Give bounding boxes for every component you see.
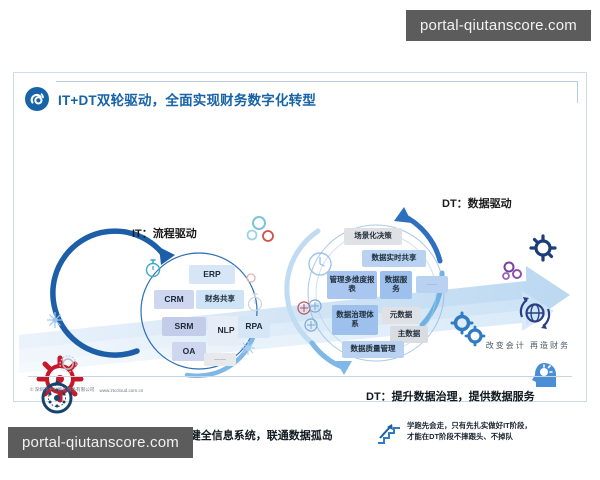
- dt-chip-scenario-decision[interactable]: 场景化决策: [344, 228, 402, 245]
- purple-gear-cluster-icon: [501, 260, 527, 282]
- snowflake-icon: [240, 340, 256, 356]
- blue-gears-icon: [449, 311, 489, 349]
- globe-arrows-icon: [517, 295, 553, 331]
- dt-chip-realtime-share[interactable]: 数据实时共享: [362, 250, 426, 267]
- watermark-bottom: portal-qiutanscore.com: [8, 427, 193, 458]
- note-line-1: 学跑先会走，只有先扎实做好IT阶段，: [407, 421, 532, 432]
- it-chip-rpa[interactable]: RPA: [238, 316, 270, 338]
- note-text: 学跑先会走，只有先扎实做好IT阶段， 才能在DT阶段不摔跟头、不掉队: [407, 421, 532, 442]
- it-chip-oa[interactable]: OA: [172, 342, 206, 361]
- footer-rule: [28, 376, 572, 377]
- slide-card: IT+DT双轮驱动，全面实现财务数字化转型: [13, 72, 587, 402]
- dt-cycle-label: DT：数据驱动: [442, 195, 512, 211]
- note-block: 学跑先会走，只有先扎实做好IT阶段， 才能在DT阶段不摔跟头、不掉队: [377, 421, 547, 445]
- stairs-arrow-icon: [377, 421, 401, 445]
- stopwatch-icon: [144, 257, 162, 279]
- dt-chip-data-governance[interactable]: 数据治理体系: [332, 305, 378, 335]
- navy-network-circle-icon: [38, 378, 76, 416]
- it-cycle-label: IT：流程驱动: [132, 225, 197, 241]
- watermark-top: portal-qiutanscore.com: [406, 10, 591, 41]
- it-banner-label: IT：健全信息系统，联通数据孤岛: [169, 427, 333, 443]
- dt-banner-label: DT：提升数据治理，提供数据服务: [366, 388, 535, 404]
- target-dots-icon: [295, 301, 325, 335]
- it-chip-erp[interactable]: ERP: [189, 265, 235, 284]
- it-chip-crm[interactable]: CRM: [154, 290, 194, 309]
- it-cycle-ring: [117, 233, 287, 393]
- gray-gear-small-icon: [58, 354, 78, 374]
- note-line-2: 才能在DT阶段不摔跟头、不掉队: [407, 432, 532, 443]
- it-chip-more[interactable]: ……: [204, 353, 236, 366]
- dt-chip-metadata[interactable]: 元数据: [382, 307, 420, 324]
- footer-copyright: © 深圳市中兴新云服务有限公司: [30, 387, 94, 393]
- gear-cluster-icon: [246, 213, 288, 247]
- footer-left: © 深圳市中兴新云服务有限公司 www.ztccloud.com.cn: [30, 387, 143, 393]
- navy-gear-icon: [528, 233, 558, 263]
- dt-banner: DT：提升数据治理，提供数据服务: [366, 388, 535, 404]
- it-chip-fin-share[interactable]: 财务共享: [196, 290, 244, 309]
- it-banner: IT：健全信息系统，联通数据孤岛: [169, 427, 333, 443]
- dt-chip-multidim-report[interactable]: 管理多维度报表: [327, 271, 377, 299]
- footer-slogan: 改变会计 再造财务: [486, 340, 570, 351]
- dt-chip-more[interactable]: ……: [416, 276, 448, 293]
- clock-icon: [307, 251, 333, 277]
- stopwatch-icon: [246, 291, 264, 313]
- dt-chip-data-service[interactable]: 数据服务: [380, 271, 412, 299]
- footer-website: www.ztccloud.com.cn: [99, 388, 143, 393]
- it-chip-srm[interactable]: SRM: [162, 317, 206, 336]
- snowflake-icon: [46, 311, 64, 329]
- pink-dot-icon: [246, 273, 256, 283]
- slide-canvas: IT+DT双轮驱动，全面实现财务数字化转型: [0, 0, 600, 480]
- dt-chip-data-quality[interactable]: 数据质量管理: [342, 341, 404, 358]
